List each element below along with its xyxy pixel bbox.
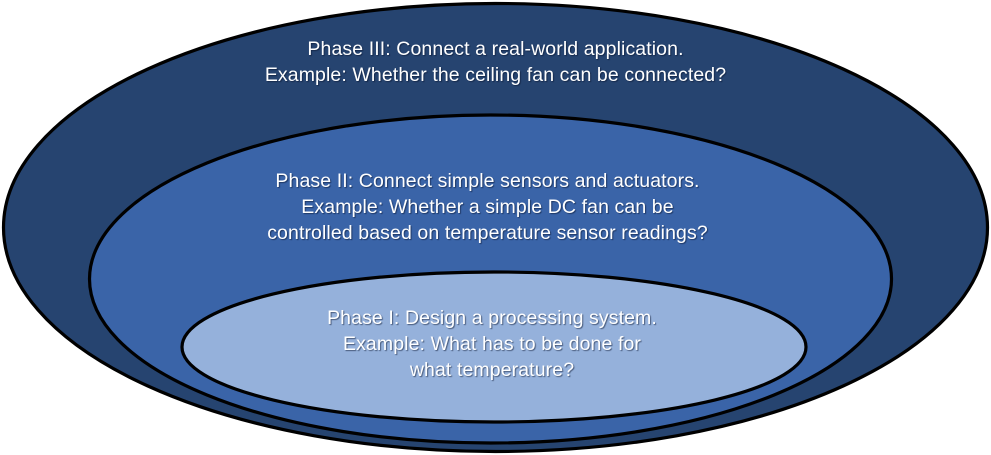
phase-2-line-1: Phase II: Connect simple sensors and act…: [0, 168, 975, 194]
phase-2-line-2: Example: Whether a simple DC fan can be: [0, 194, 975, 220]
phase-2-line-3: controlled based on temperature sensor r…: [0, 220, 975, 246]
phase-1-line-2: Example: What has to be done for: [0, 331, 984, 357]
phase-1-text-block: Phase I: Design a processing system. Exa…: [0, 305, 984, 383]
phase-1-line-3: what temperature?: [0, 357, 984, 383]
phase-3-line-2: Example: Whether the ceiling fan can be …: [0, 62, 991, 88]
phase-2-text-block: Phase II: Connect simple sensors and act…: [0, 168, 975, 246]
phase-3-text-block: Phase III: Connect a real-world applicat…: [0, 36, 991, 88]
nested-phase-diagram: Phase III: Connect a real-world applicat…: [0, 0, 991, 455]
phase-1-line-1: Phase I: Design a processing system.: [0, 305, 984, 331]
phase-3-line-1: Phase III: Connect a real-world applicat…: [0, 36, 991, 62]
